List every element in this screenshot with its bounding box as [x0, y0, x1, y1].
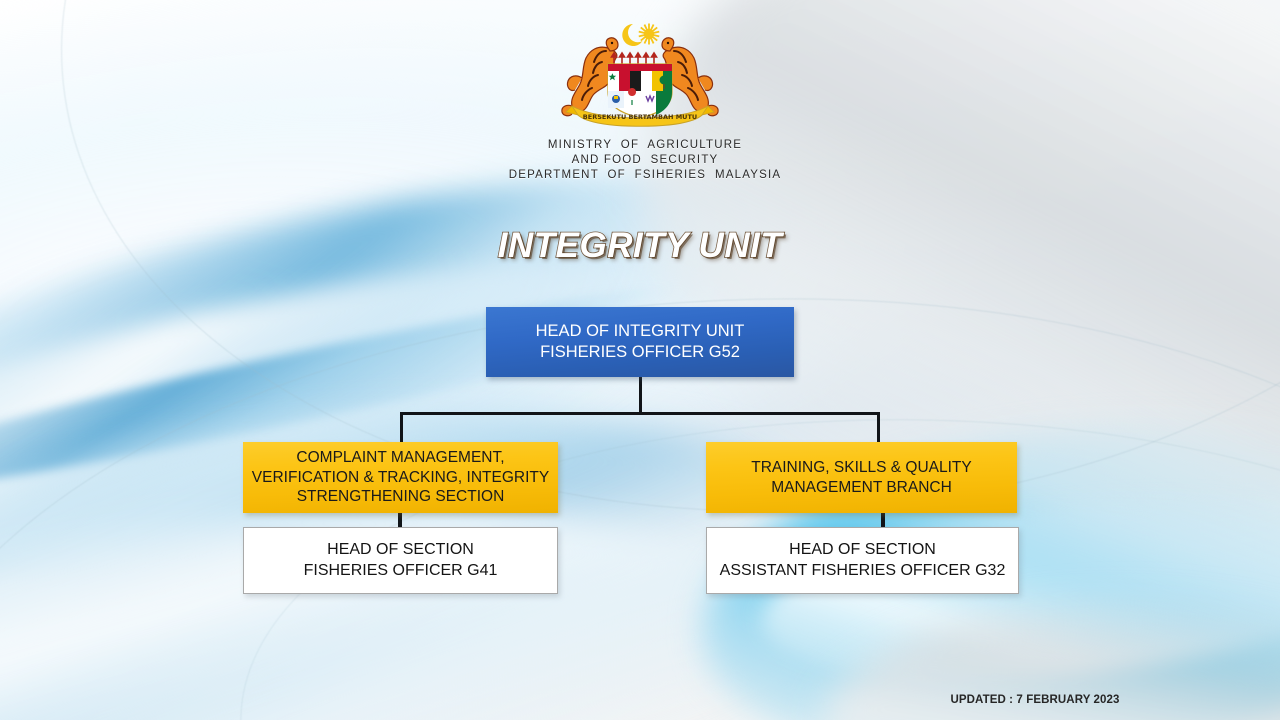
connector-trunk-vertical	[639, 376, 642, 414]
connector-left-branch-to-post	[398, 512, 402, 528]
ministry-line-3: DEPARTMENT OF FSIHERIES MALAYSIA	[0, 168, 1280, 183]
malaysia-coat-of-arms-icon: BERSEKUTU BERTAMBAH MUTU	[548, 18, 732, 136]
right-post-line-1: HEAD OF SECTION	[720, 540, 1006, 560]
right-branch-line-1: TRAINING, SKILLS & QUALITY	[751, 458, 972, 478]
ministry-line-2: AND FOOD SECURITY	[0, 153, 1280, 168]
emblem-motto: BERSEKUTU BERTAMBAH MUTU	[583, 113, 697, 121]
right-branch-line-2: MANAGEMENT BRANCH	[751, 478, 972, 498]
left-branch-line-1: COMPLAINT MANAGEMENT,	[252, 448, 549, 468]
left-branch-line-2: VERIFICATION & TRACKING, INTEGRITY	[252, 468, 549, 488]
node-head-of-section-g41[interactable]: HEAD OF SECTION FISHERIES OFFICER G41	[243, 527, 558, 594]
connector-right-drop	[877, 412, 880, 444]
node-training-skills-quality-branch[interactable]: TRAINING, SKILLS & QUALITY MANAGEMENT BR…	[706, 442, 1017, 513]
node-head-of-section-g32[interactable]: HEAD OF SECTION ASSISTANT FISHERIES OFFI…	[706, 527, 1019, 594]
node-complaint-management-section[interactable]: COMPLAINT MANAGEMENT, VERIFICATION & TRA…	[243, 442, 558, 513]
head-line-1: HEAD OF INTEGRITY UNIT	[536, 321, 745, 342]
left-branch-line-3: STRENGTHENING SECTION	[252, 487, 549, 507]
connector-horizontal-bar	[400, 412, 880, 415]
node-head-of-integrity-unit[interactable]: HEAD OF INTEGRITY UNIT FISHERIES OFFICER…	[486, 307, 794, 377]
right-post-line-2: ASSISTANT FISHERIES OFFICER G32	[720, 561, 1006, 581]
ministry-line-1: MINISTRY OF AGRICULTURE	[0, 138, 1280, 153]
connector-left-drop	[400, 412, 403, 444]
organization-chart-slide: BERSEKUTU BERTAMBAH MUTU MINISTRY OF AGR…	[0, 0, 1280, 720]
left-post-line-2: FISHERIES OFFICER G41	[304, 561, 498, 581]
ministry-caption: MINISTRY OF AGRICULTURE AND FOOD SECURIT…	[0, 138, 1280, 183]
updated-timestamp: UPDATED : 7 FEBRUARY 2023	[900, 694, 1170, 706]
left-post-line-1: HEAD OF SECTION	[304, 540, 498, 560]
head-line-2: FISHERIES OFFICER G52	[536, 342, 745, 363]
connector-right-branch-to-post	[881, 512, 885, 528]
page-title: INTEGRITY UNIT	[0, 226, 1280, 266]
